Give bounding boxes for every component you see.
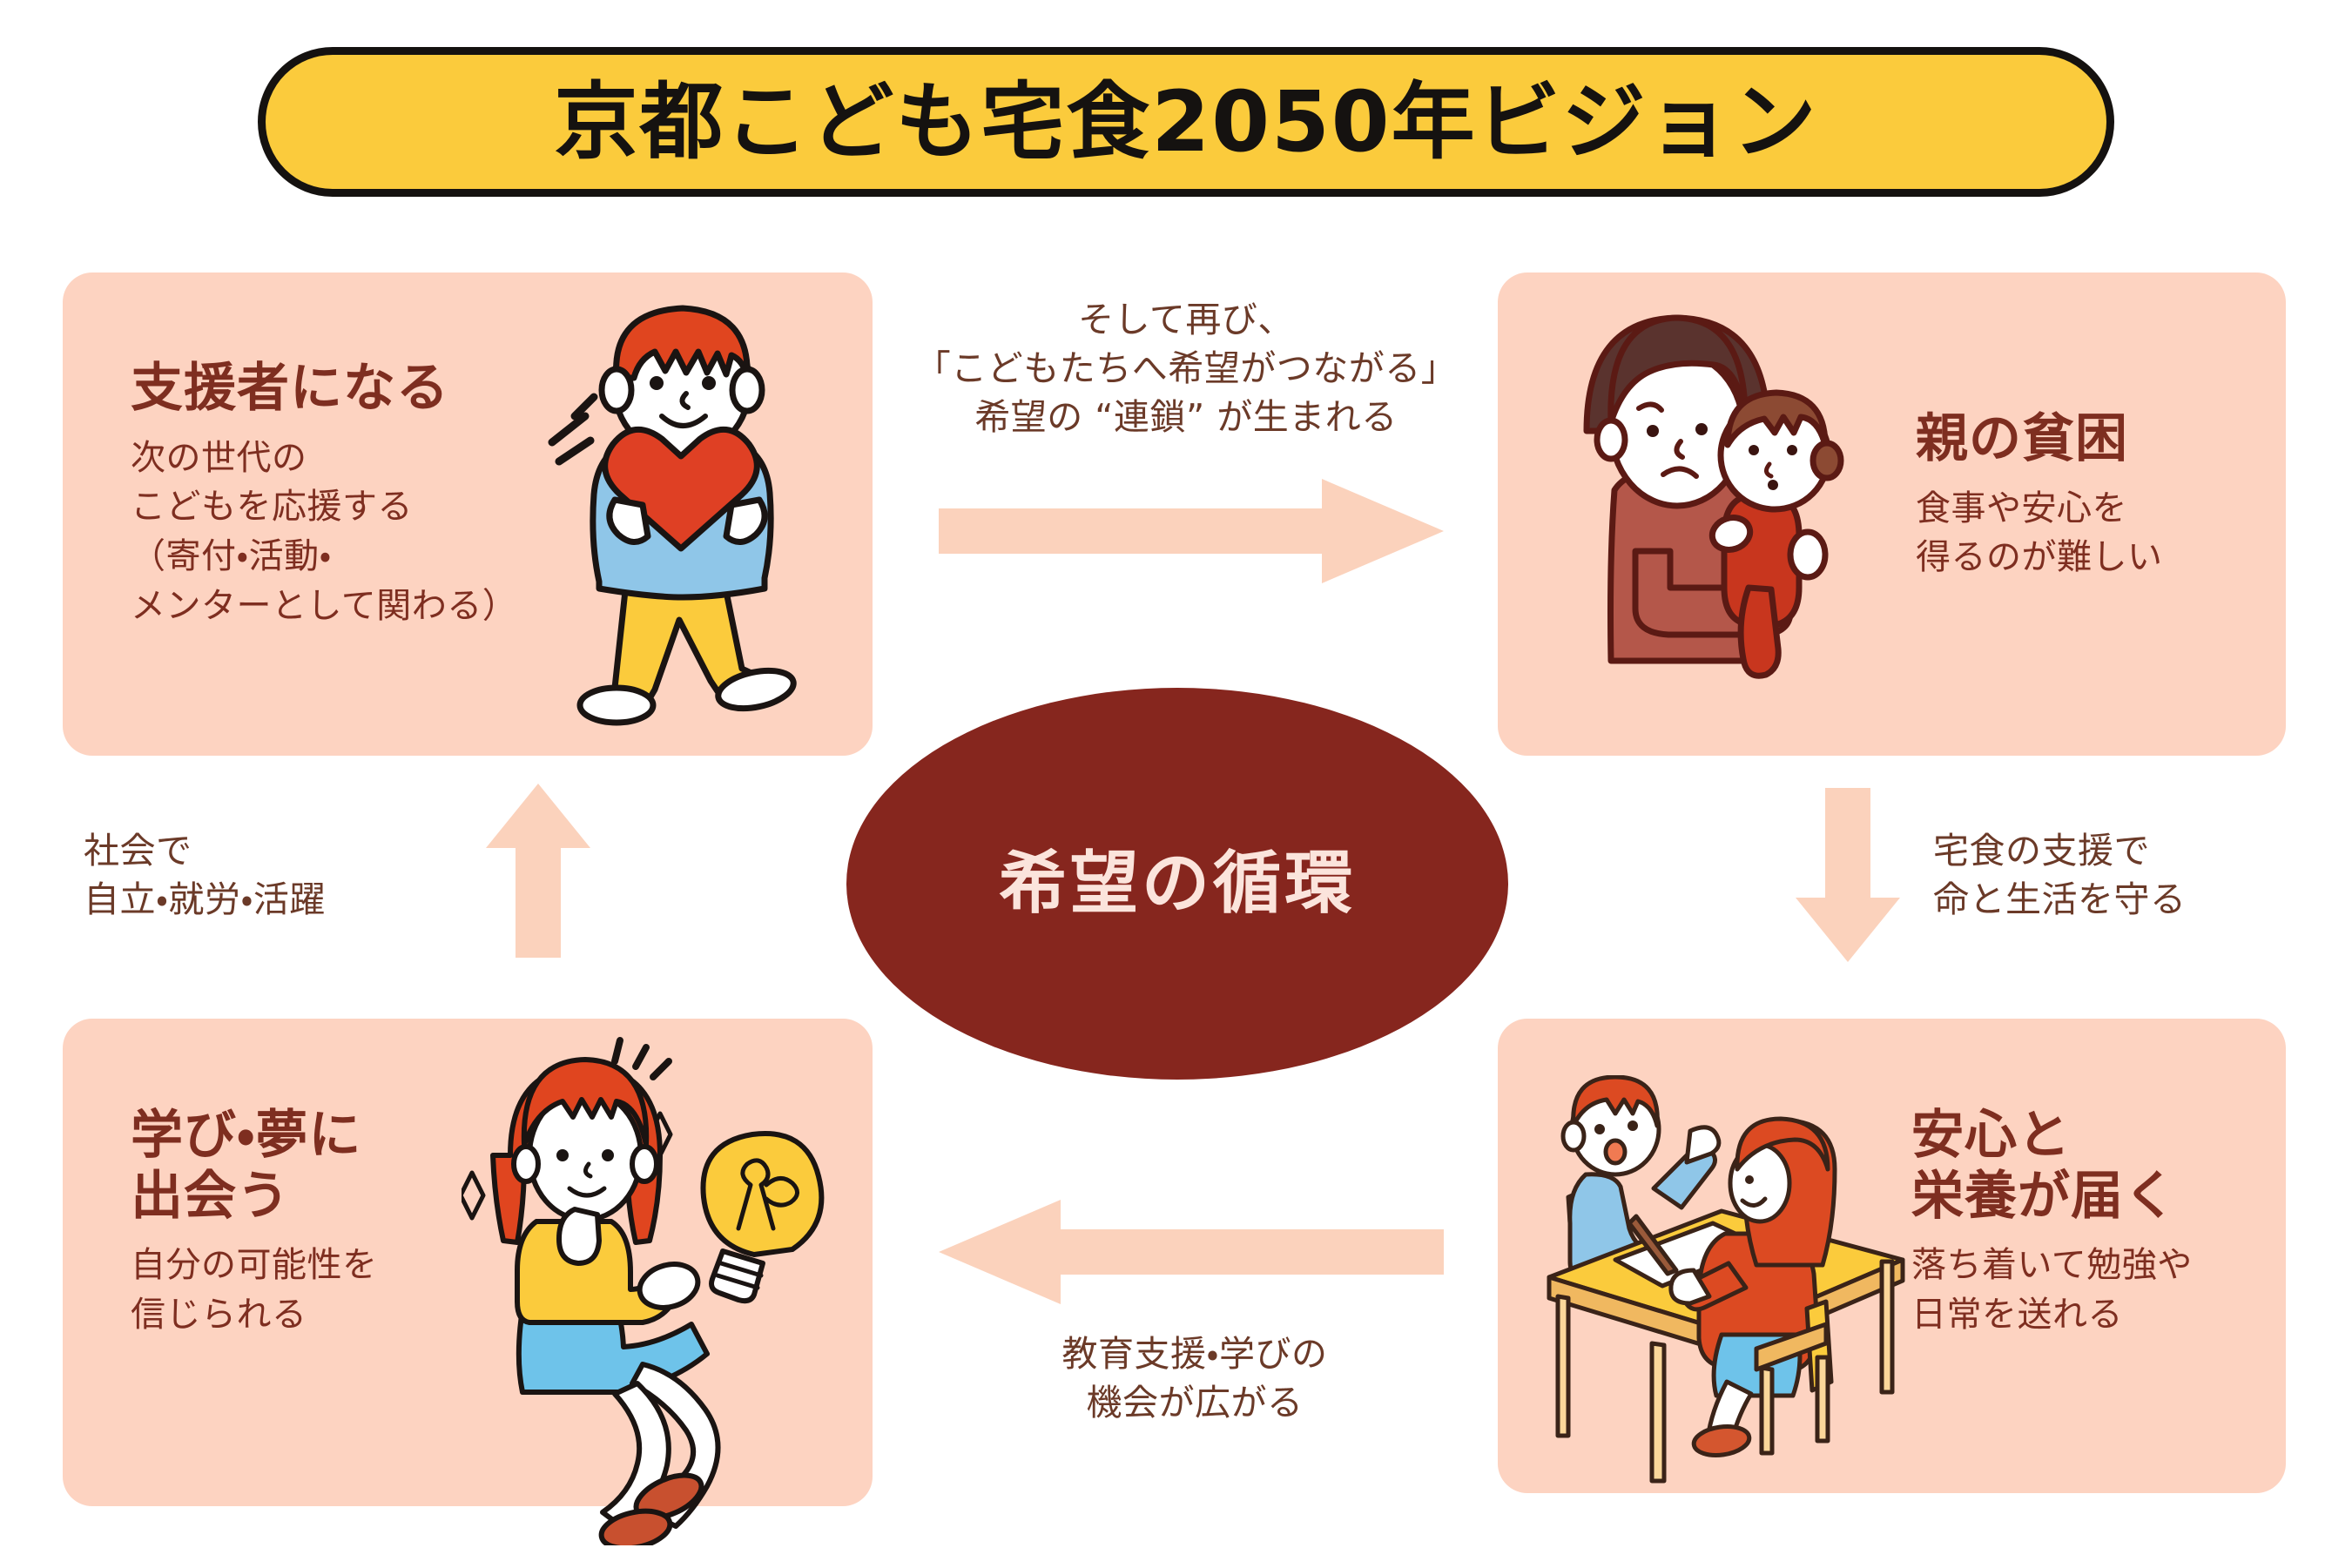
card-parent-poverty-heading: 親の貧困 — [1916, 409, 2163, 470]
title-banner: 京都こども宅食2050年ビジョン — [258, 47, 2114, 197]
infographic-canvas: 京都こども宅食2050年ビジョン 支援者になる 次の世代の こどもを応援する （… — [0, 0, 2352, 1568]
card-learning-dreams-heading: 学び・夢に 出会う — [131, 1106, 378, 1227]
mother-holding-baby-illustration — [1541, 300, 1907, 696]
card-supporter-body: 次の世代の こどもを応援する （寄付・活動・ メンターとして関わる） — [131, 434, 517, 631]
card-parent-poverty-body: 食事や安心を 得るのが難しい — [1916, 484, 2163, 583]
connector-label-left: 社会で 自立・就労・活躍 — [84, 827, 326, 925]
boy-holding-heart-illustration — [540, 287, 871, 744]
connector-label-bottom: 教育支援・学びの 機会が広がる — [925, 1330, 1465, 1428]
page-title: 京都こども宅食2050年ビジョン — [554, 80, 1817, 164]
card-learning-dreams-text: 学び・夢に 出会う 自分の可能性を 信じられる — [131, 1106, 378, 1340]
arrow-up-icon — [486, 784, 590, 961]
arrow-right-icon — [939, 479, 1444, 587]
card-parent-poverty-text: 親の貧困 食事や安心を 得るのが難しい — [1916, 409, 2163, 582]
card-learning-dreams-body: 自分の可能性を 信じられる — [131, 1241, 378, 1340]
card-safety-nutrition-body: 落ち着いて勉強や 日常を送れる — [1911, 1241, 2193, 1340]
children-studying-illustration — [1528, 1075, 1946, 1488]
arrow-down-icon — [1796, 788, 1900, 966]
card-supporter-text: 支援者になる 次の世代の こどもを応援する （寄付・活動・ メンターとして関わる… — [131, 359, 517, 631]
arrow-left-icon — [939, 1200, 1444, 1308]
center-cycle-ellipse: 希望の循環 — [846, 688, 1508, 1080]
card-supporter-heading: 支援者になる — [131, 359, 517, 420]
card-safety-nutrition-heading: 安心と 栄養が届く — [1911, 1106, 2193, 1227]
card-safety-nutrition-text: 安心と 栄養が届く 落ち着いて勉強や 日常を送れる — [1911, 1106, 2193, 1340]
girl-thinking-with-lightbulb-illustration — [462, 1023, 862, 1549]
connector-label-top: そして再び、 「こどもたちへ希望がつながる」 希望の “連鎖” が生まれる — [890, 296, 1482, 441]
connector-label-right: 宅食の支援で 命と生活を守る — [1933, 827, 2187, 925]
center-cycle-label: 希望の循環 — [999, 850, 1356, 918]
